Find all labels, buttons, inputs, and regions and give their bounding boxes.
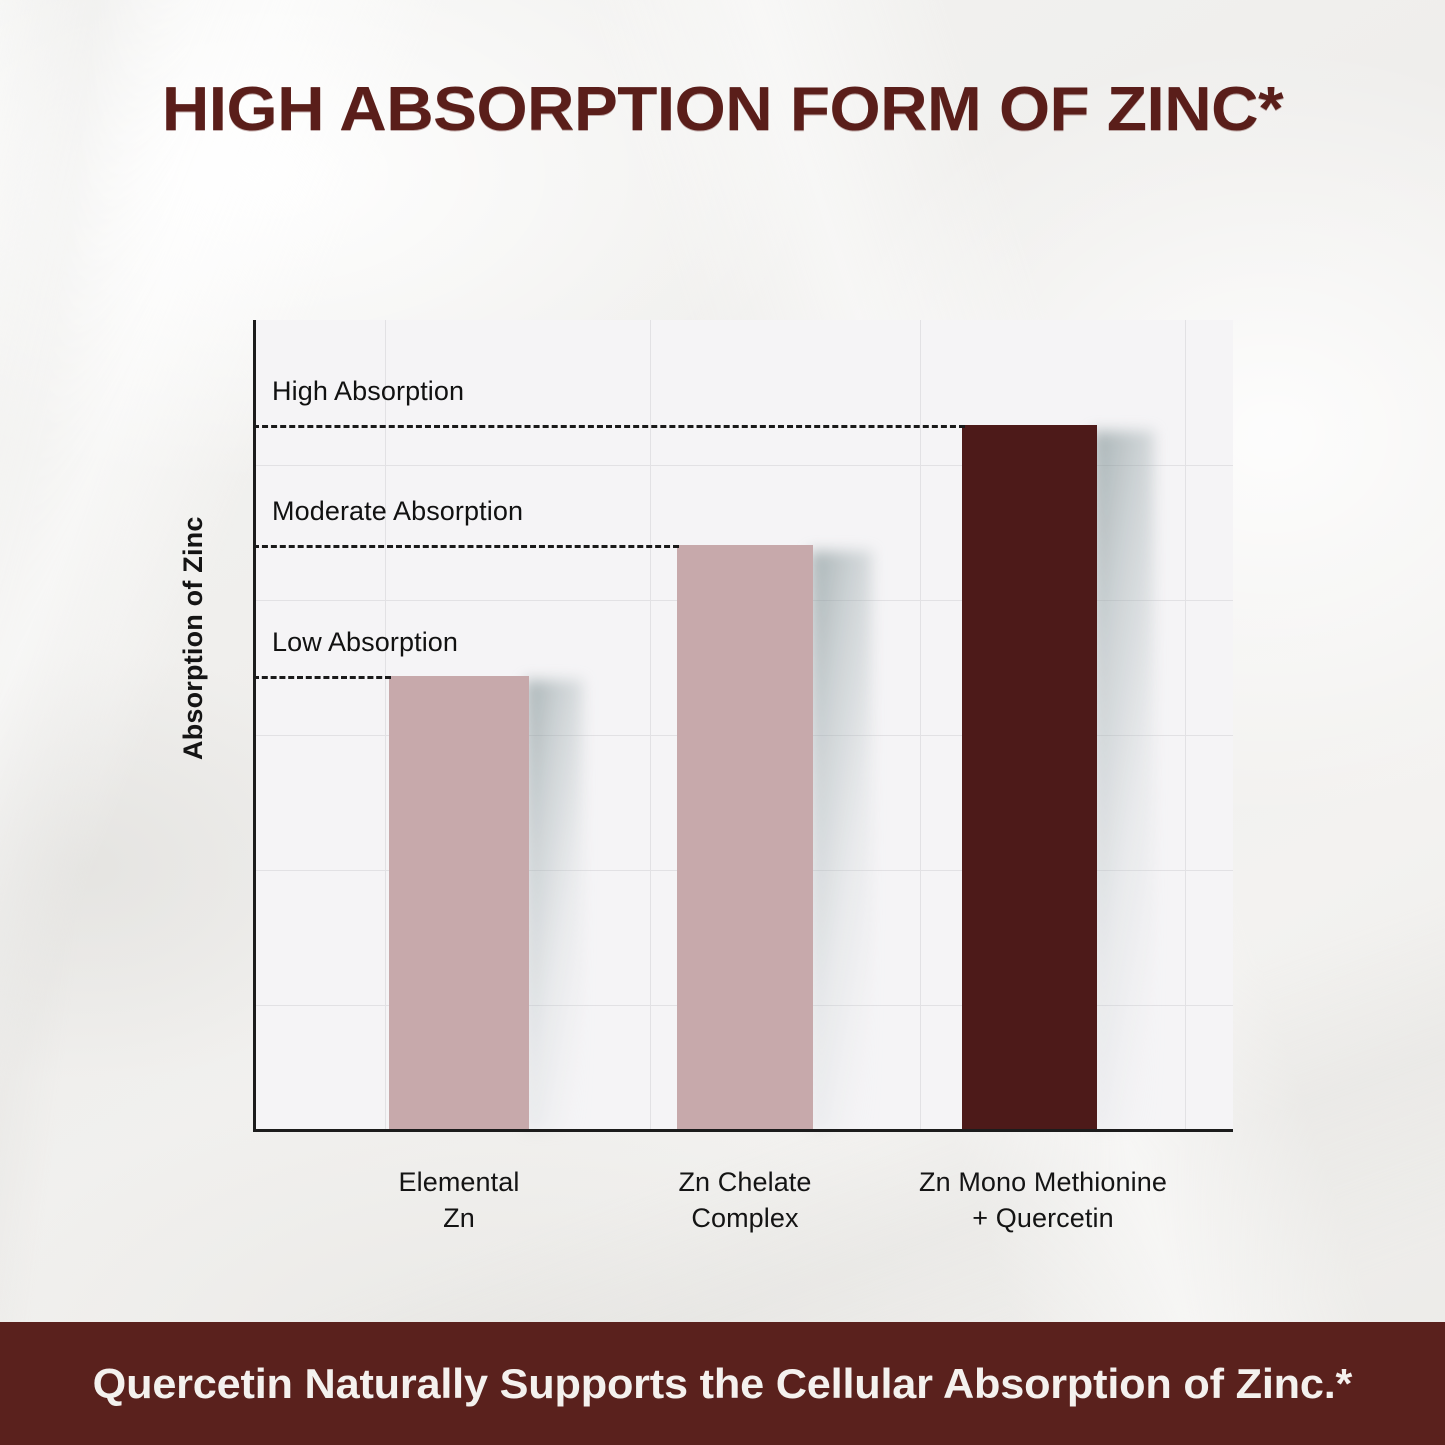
gridline-vertical bbox=[385, 320, 386, 1132]
threshold-line-moderate bbox=[253, 545, 679, 548]
x-tick-label-line: Zn bbox=[319, 1201, 599, 1237]
x-tick-label-zn-mono-methionine-quercetin: Zn Mono Methionine + Quercetin bbox=[879, 1165, 1207, 1236]
x-tick-label-line: Zn Mono Methionine bbox=[879, 1165, 1207, 1201]
x-tick-label-line: + Quercetin bbox=[879, 1201, 1207, 1237]
infographic-page: HIGH ABSORPTION FORM OF ZINC* High Absor… bbox=[0, 0, 1445, 1445]
page-title: HIGH ABSORPTION FORM OF ZINC* bbox=[0, 74, 1445, 145]
x-tick-label-line: Complex bbox=[605, 1201, 885, 1237]
gridline-vertical bbox=[1185, 320, 1186, 1132]
threshold-label-moderate: Moderate Absorption bbox=[272, 496, 523, 527]
y-axis-label: Absorption of Zinc bbox=[178, 400, 209, 760]
bar-zn-mono-methionine-quercetin bbox=[962, 425, 1097, 1129]
gridline-vertical bbox=[920, 320, 921, 1132]
gridline-vertical bbox=[650, 320, 651, 1132]
x-axis-line bbox=[253, 1129, 1233, 1132]
threshold-label-low: Low Absorption bbox=[272, 627, 458, 658]
bottom-banner: Quercetin Naturally Supports the Cellula… bbox=[0, 1322, 1445, 1445]
x-tick-label-zn-chelate-complex: Zn Chelate Complex bbox=[605, 1165, 885, 1236]
bar-elemental-zn bbox=[389, 676, 529, 1129]
x-tick-label-line: Elemental bbox=[319, 1165, 599, 1201]
threshold-label-high: High Absorption bbox=[272, 376, 464, 407]
absorption-bar-chart: High Absorption Moderate Absorption Low … bbox=[253, 320, 1233, 1132]
threshold-line-high bbox=[253, 425, 965, 428]
y-axis-line bbox=[253, 320, 256, 1132]
x-tick-label-elemental-zn: Elemental Zn bbox=[319, 1165, 599, 1236]
banner-text: Quercetin Naturally Supports the Cellula… bbox=[93, 1360, 1353, 1408]
x-tick-label-line: Zn Chelate bbox=[605, 1165, 885, 1201]
bar-zn-chelate-complex bbox=[677, 545, 813, 1129]
threshold-line-low bbox=[253, 676, 391, 679]
